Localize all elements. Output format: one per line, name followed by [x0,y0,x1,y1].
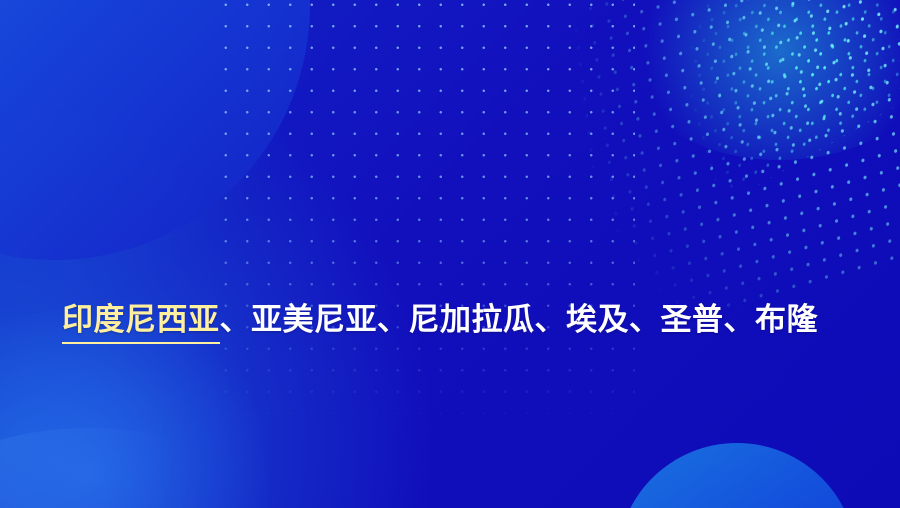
text-line-1: 印度尼西亚、亚美尼亚、尼加拉瓜、埃及、圣普、布隆 [62,292,854,347]
highlight-indonesia: 印度尼西亚 [62,302,220,344]
slide-canvas: 印度尼西亚、亚美尼亚、尼加拉瓜、埃及、圣普、布隆 迪、卢旺达、南苏丹、哈萨克斯坦… [0,0,900,508]
country-list-text: 印度尼西亚、亚美尼亚、尼加拉瓜、埃及、圣普、布隆 迪、卢旺达、南苏丹、哈萨克斯坦… [62,127,854,508]
text-line-1-rest: 、亚美尼亚、尼加拉瓜、埃及、圣普、布隆 [220,302,819,337]
